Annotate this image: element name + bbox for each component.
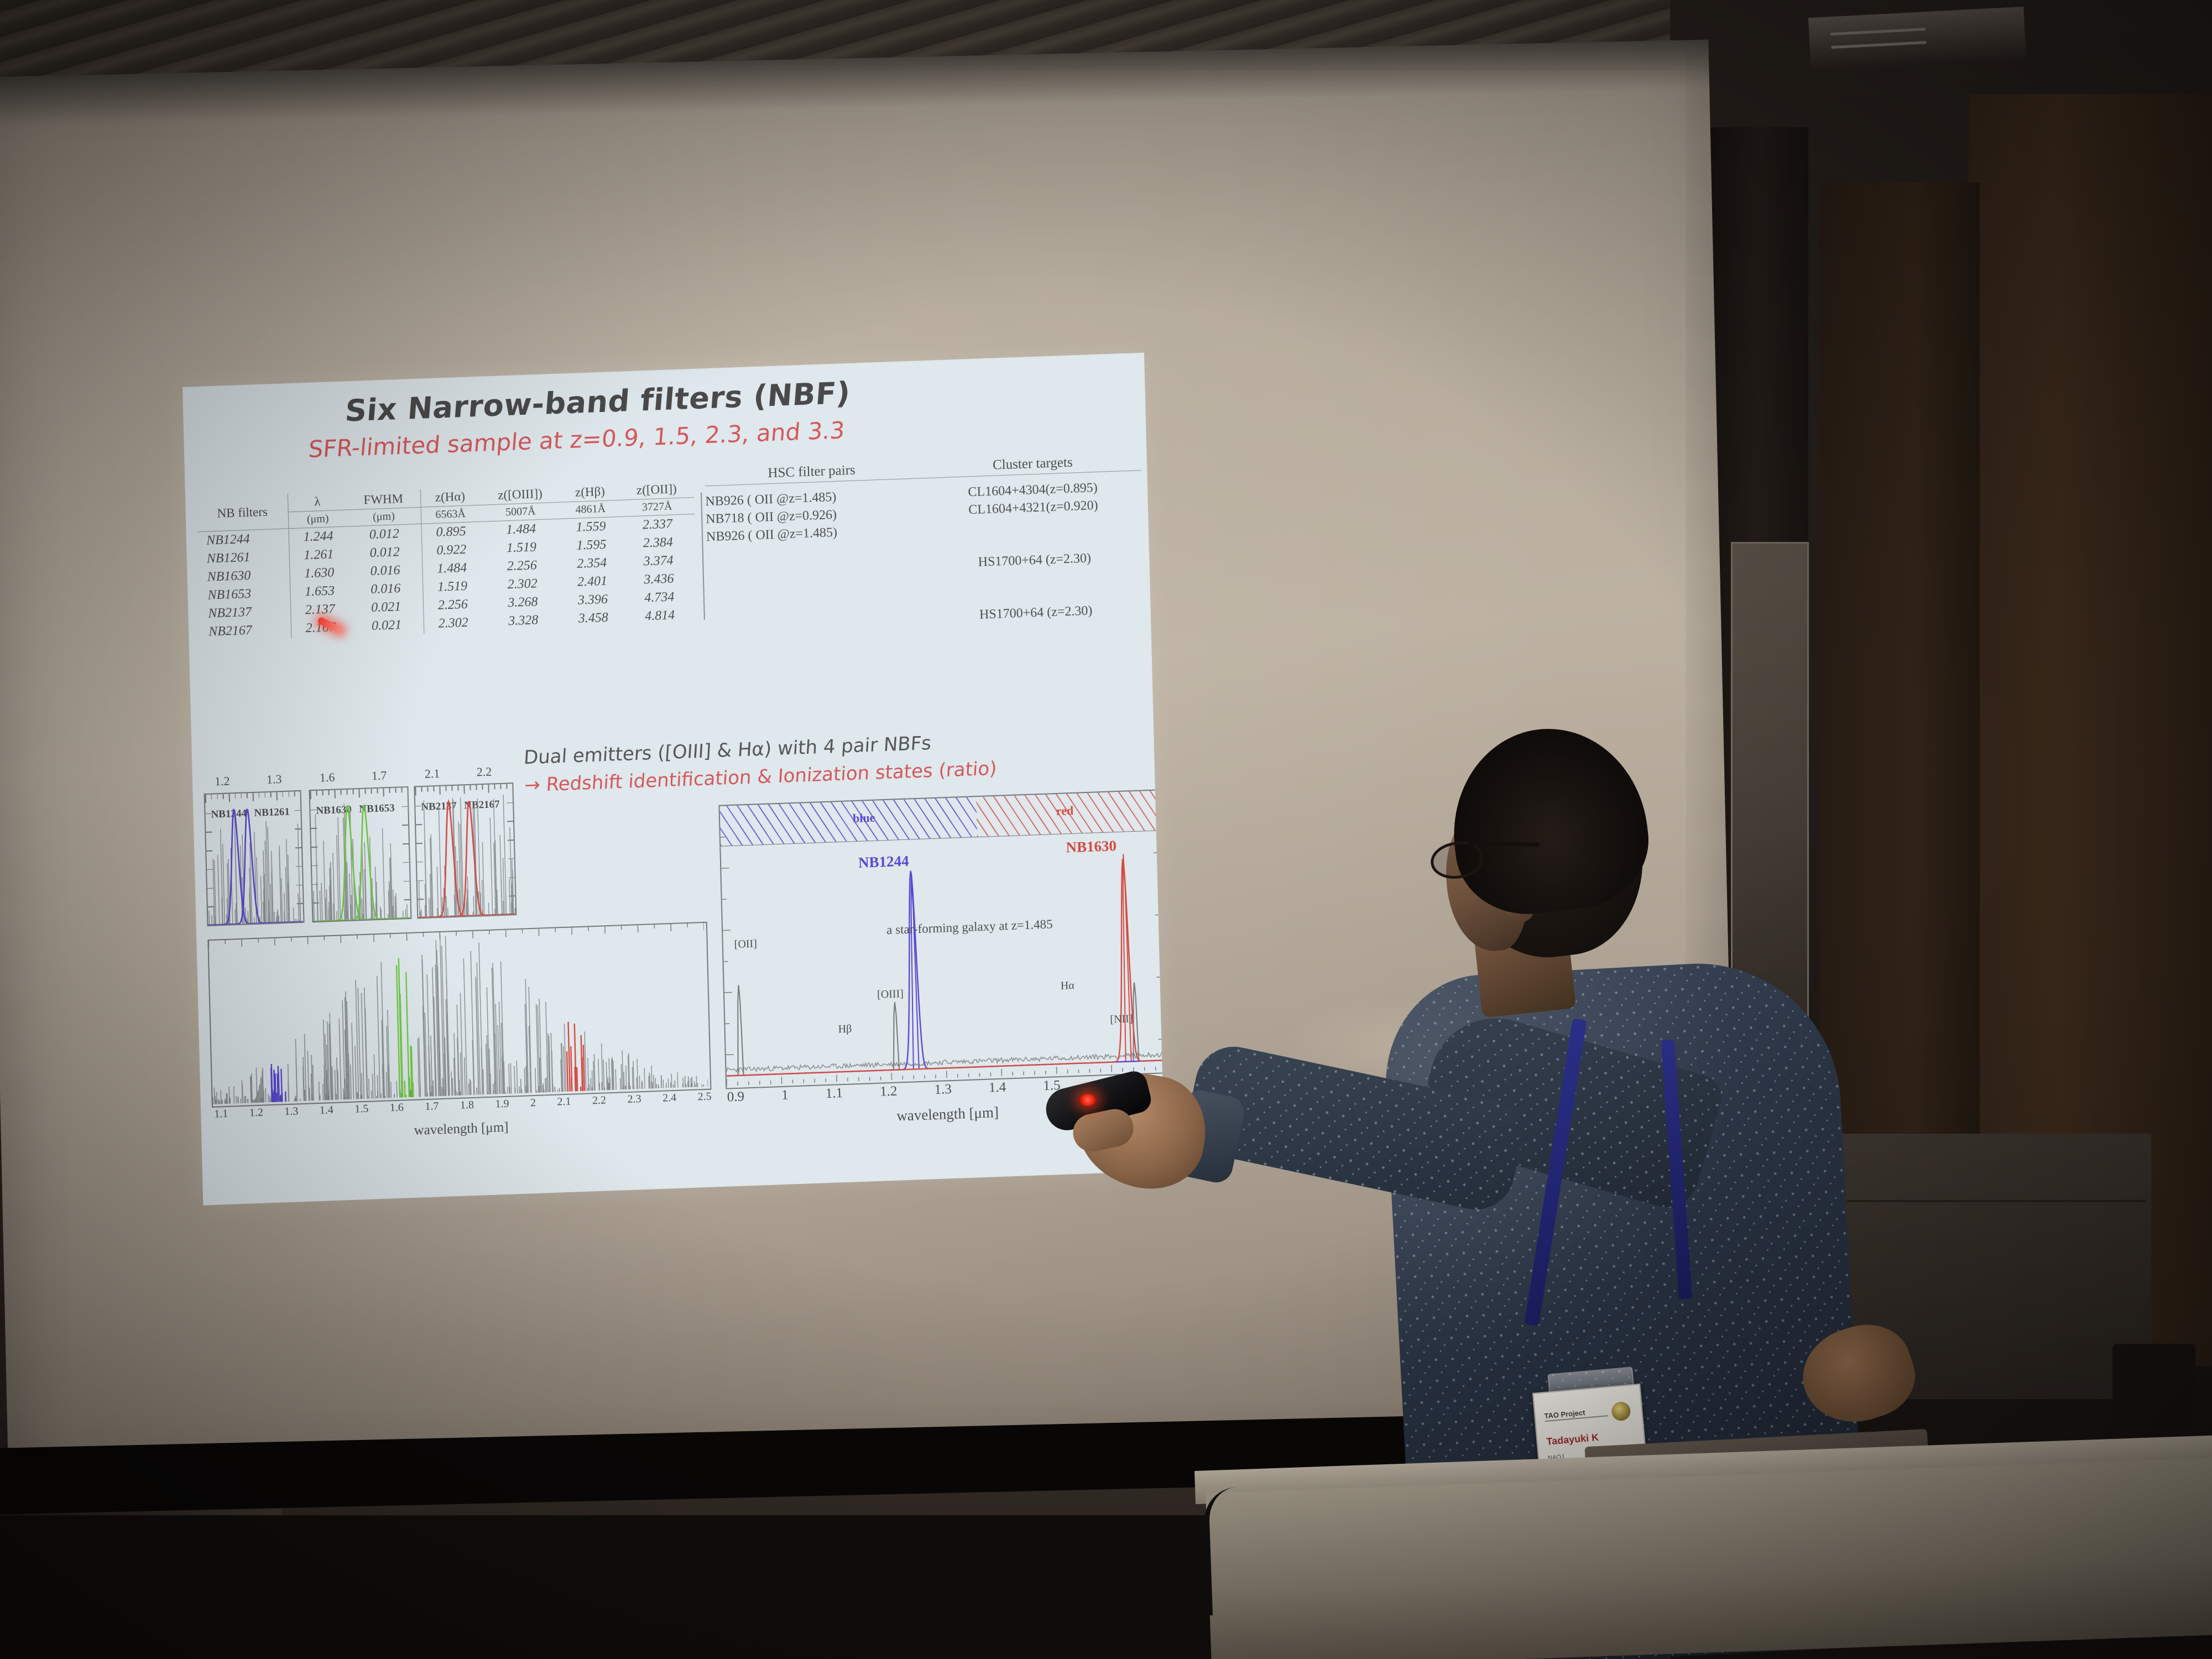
glasses-temple-arm (1468, 841, 1540, 846)
oh-sky-spectrum-panel (207, 922, 711, 1108)
col-z-hb: z(Hβ) (561, 482, 620, 502)
unit-z-oii: 3727Å (619, 498, 695, 517)
cell-value: 2.354 (562, 554, 622, 574)
axis-tick-label: 1.6 (320, 770, 335, 785)
axis-tick-label: 1.3 (934, 1082, 952, 1098)
mini-panel-plot (415, 784, 515, 917)
hsc-cluster-table: HSC filter pairs Cluster targets NB926 (… (705, 452, 1145, 635)
cell-value: 2.302 (424, 613, 483, 634)
cell-value: 1.484 (422, 559, 481, 579)
cell-value: 1.484 (480, 519, 562, 540)
axis-tick-label: 2.5 (697, 1091, 712, 1104)
axis-tick-label: 1.6 (390, 1102, 404, 1115)
filter-transmission-panels: NB1244NB12611.21.3NB1630NB16531.61.7NB21… (204, 763, 517, 928)
cell-value: 1.630 (290, 563, 349, 583)
axis-tick-label: 0.9 (727, 1089, 744, 1105)
line-label-hbeta: Hβ (838, 1022, 852, 1036)
cell-filter-name: NB2167 (200, 620, 291, 641)
axis-tick-label: 1.9 (495, 1098, 509, 1111)
line-label-oiii: [OIII] (877, 988, 904, 1001)
line-label-oii: [OII] (734, 937, 757, 951)
cell-value: 1.559 (561, 517, 620, 537)
axis-tick-label: 1.1 (825, 1086, 843, 1102)
axis-tick-label: 1.4 (320, 1104, 334, 1117)
cell-value: 3.436 (622, 569, 697, 590)
cell-value: 0.021 (349, 615, 424, 637)
spacer (926, 567, 1145, 607)
power-cable (1203, 1487, 1251, 1616)
col-fwhm: FWHM (346, 489, 421, 510)
cell-value: 3.328 (482, 611, 564, 632)
spectrum-nb-label-1630: NB1630 (1066, 837, 1117, 856)
nb-filter-table: NB filters λ FWHM z(Hα) z([OIII]) z(Hβ) … (196, 479, 697, 641)
cell-value: 0.922 (421, 540, 481, 561)
mini-panel-plot (310, 787, 411, 921)
hsc-filter-pairs-column: NB926 ( OII @z=1.485)NB718 ( OII @z=0.92… (705, 484, 927, 635)
cell-value: 1.244 (289, 526, 348, 547)
axis-tick-label: 1.2 (880, 1084, 898, 1100)
axis-tick-label: 2.1 (557, 1095, 571, 1109)
col-z-oiii: z([OIII]) (479, 484, 561, 505)
axis-tick-label: 1.3 (284, 1105, 299, 1118)
unit-fwhm: (μm) (347, 507, 421, 526)
cell-value: 0.012 (348, 542, 422, 564)
axis-tick-label: 1.1 (214, 1108, 228, 1121)
line-label-nii: [NII] (1110, 1013, 1133, 1026)
axis-tick-label: 1.5 (354, 1103, 369, 1116)
unit-lambda: (μm) (288, 510, 347, 529)
axis-tick-label: 1.2 (249, 1107, 264, 1120)
cell-value: 2.337 (620, 514, 695, 535)
cell-value: 1.595 (562, 535, 621, 556)
axis-tick-label: 2.2 (476, 764, 492, 779)
axis-tick-label: 2.2 (592, 1094, 607, 1107)
axis-tick-label: 1.8 (460, 1099, 474, 1112)
axis-tick-label: 1 (781, 1088, 789, 1103)
cell-value: 1.519 (481, 538, 562, 559)
screenshot-root: Six Narrow-band filters (NBF) SFR-limite… (0, 0, 2212, 1659)
unit-z-ha: 6563Å (421, 505, 480, 524)
col-z-oii: z([OII]) (619, 479, 694, 500)
col-nb-filters: NB filters (196, 494, 289, 531)
cell-value: 3.458 (564, 608, 623, 629)
col-lambda: λ (288, 492, 347, 512)
blue-band-label: blue (853, 811, 875, 826)
axis-tick-label: 1.7 (372, 768, 387, 783)
red-band-label: red (1056, 804, 1073, 818)
cell-value: 4.734 (622, 587, 697, 608)
cell-value: 0.016 (348, 579, 423, 600)
panel-nb16 (309, 786, 411, 922)
axis-tick-label: 2 (530, 1097, 536, 1109)
cell-value: 0.895 (421, 521, 481, 542)
floor-shadow (0, 1515, 1250, 1659)
panel-nb21 (414, 782, 517, 919)
line-label-halpha: Hα (1061, 979, 1074, 993)
blue-band-hatch (719, 797, 977, 846)
cell-value: 4.814 (622, 606, 697, 627)
cell-value: 0.012 (347, 524, 422, 545)
cluster-targets-column: CL1604+4304(z=0.895) CL1604+4321(z=0.920… (924, 476, 1145, 627)
panel-nb12 (204, 790, 305, 926)
unit-z-hb: 4861Å (561, 500, 620, 519)
cell-value: 2.256 (481, 556, 563, 577)
cell-value: 2.384 (620, 533, 696, 554)
cell-value: 2.256 (423, 595, 482, 615)
cell-value: 1.519 (422, 577, 482, 597)
axis-tick-label: 1.3 (267, 772, 282, 787)
cell-value: 2.302 (482, 574, 564, 595)
cell-value: 3.374 (621, 551, 696, 572)
axis-tick-label: 1.7 (425, 1100, 439, 1113)
axis-tick-label: 1.4 (989, 1080, 1006, 1096)
axis-tick-label: 2.4 (662, 1092, 677, 1105)
table-vertical-rule (701, 493, 705, 620)
sky-spectrum-plot (208, 923, 708, 1104)
hsc-header-filter-pairs: HSC filter pairs (768, 463, 855, 482)
cell-value: 2.401 (563, 572, 622, 592)
mini-panel-plot (205, 791, 304, 925)
cell-value: 0.021 (349, 597, 424, 618)
cell-value: 1.653 (290, 581, 349, 602)
presentation-slide: Six Narrow-band filters (NBF) SFR-limite… (182, 353, 1165, 1206)
axis-tick-label: 1.2 (215, 774, 230, 789)
cell-value: 0.016 (348, 561, 422, 582)
badge-logo-icon (1611, 1401, 1631, 1422)
col-z-ha: z(Hα) (420, 487, 479, 507)
axis-tick-label: 2.1 (424, 766, 440, 781)
cell-value: 3.268 (482, 592, 564, 613)
galaxy-spectrum-panel: blue red NB1244 NB1630 a star-forming ga… (718, 789, 1165, 1089)
cell-value: 3.396 (564, 590, 623, 611)
hsc-header-cluster-targets: Cluster targets (993, 455, 1073, 473)
laser-led-icon (1079, 1094, 1096, 1106)
axis-tick-label: 2.3 (627, 1093, 641, 1106)
cell-value: 1.261 (289, 545, 348, 566)
spacer (925, 514, 1144, 554)
ceiling-air-vent (1807, 6, 2028, 71)
badge-name: Tadayuki K (1546, 1432, 1599, 1448)
spectrum-nb-label-1244: NB1244 (858, 853, 909, 872)
